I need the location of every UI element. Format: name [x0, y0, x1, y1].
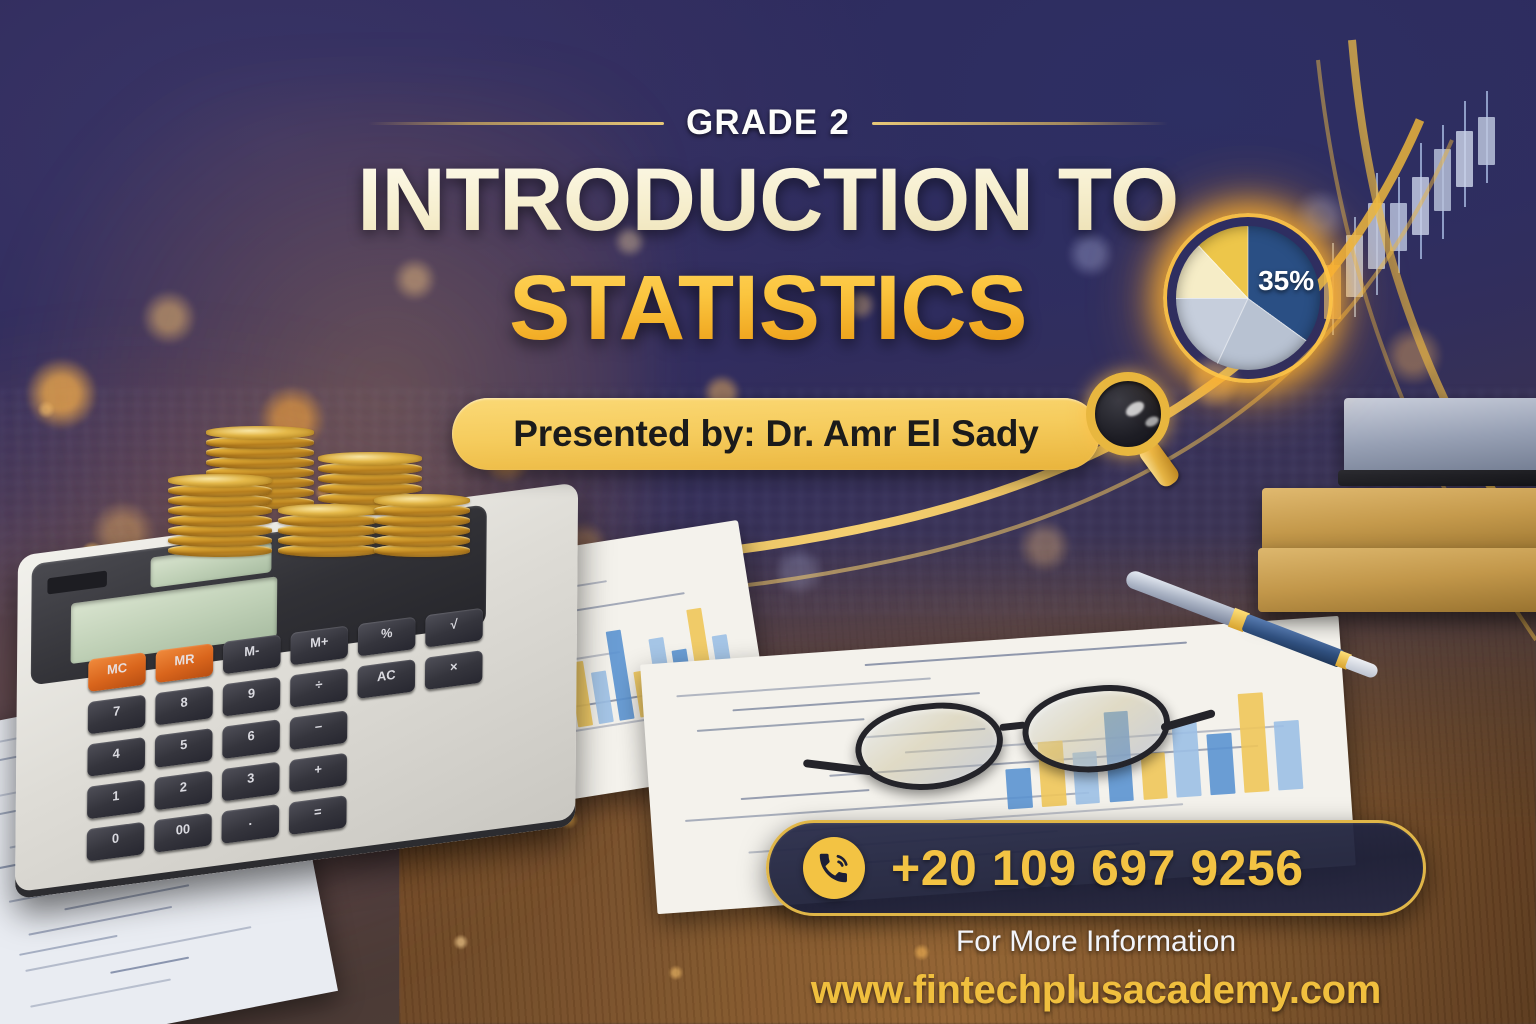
- more-info-label: For More Information: [766, 925, 1426, 959]
- gold-coin-stack: [168, 463, 272, 567]
- pie-chart: 35%: [1176, 226, 1320, 370]
- gold-coin-stack: [374, 483, 470, 567]
- magnifying-glass-icon: [1072, 372, 1190, 482]
- phone-icon: [803, 837, 865, 899]
- promotional-poster: MCMRM-M+%√789÷AC×456−123+000.= GRADE 2 I…: [0, 0, 1536, 1024]
- website-url[interactable]: www.fintechplusacademy.com: [766, 968, 1426, 1013]
- phone-number: +20 109 697 9256: [891, 839, 1304, 897]
- pie-chart-disc: [1176, 226, 1320, 370]
- presenter-pill: Presented by: Dr. Amr El Sady: [452, 398, 1100, 470]
- divider-line-left: [368, 122, 664, 125]
- eyebrow-row: GRADE 2: [0, 100, 1536, 146]
- grade-label: GRADE 2: [686, 103, 850, 143]
- pie-slice-divider: [1248, 227, 1249, 299]
- pie-slice-divider: [1217, 298, 1249, 364]
- divider-line-right: [872, 122, 1168, 125]
- contact-banner[interactable]: +20 109 697 9256: [766, 820, 1426, 916]
- pie-slice-divider: [1176, 298, 1248, 299]
- presenter-name: Presented by: Dr. Amr El Sady: [513, 413, 1038, 455]
- pie-slice-divider: [1248, 298, 1307, 341]
- pie-slice-divider: [1198, 246, 1248, 299]
- pie-chart-value-label: 35%: [1258, 265, 1314, 297]
